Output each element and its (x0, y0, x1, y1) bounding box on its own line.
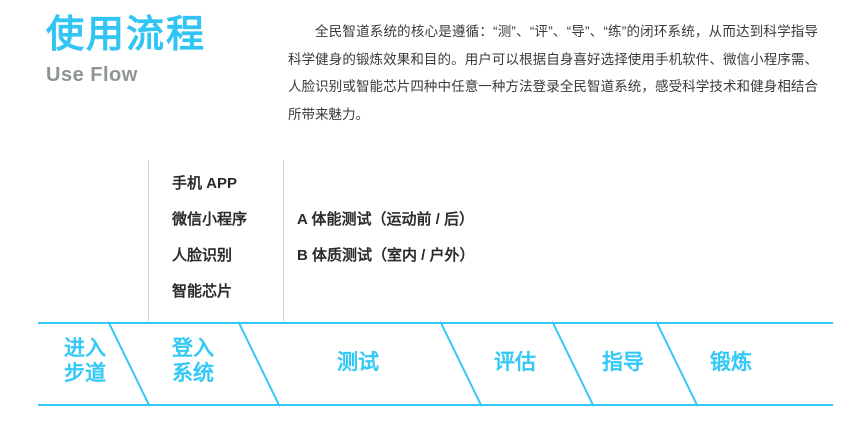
test-items-list: A 体能测试（运动前 / 后） B 体质测试（室内 / 户外） (297, 202, 475, 274)
step-test[interactable]: 测试 (288, 350, 428, 375)
step-guide[interactable]: 指导 (580, 350, 666, 375)
detail-area: 手机 APP 微信小程序 人脸识别 智能芯片 A 体能测试（运动前 / 后） B… (0, 160, 851, 320)
step-label-line1: 锻炼 (688, 350, 774, 375)
step-enter-trail[interactable]: 进入 步道 (42, 336, 128, 386)
step-label-line1: 评估 (472, 350, 558, 375)
list-item: 微信小程序 (172, 202, 277, 238)
login-methods-list: 手机 APP 微信小程序 人脸识别 智能芯片 (172, 166, 277, 310)
band-top-rule (38, 322, 833, 324)
band-bottom-rule (38, 404, 833, 406)
step-label-line1: 登入 (150, 336, 236, 361)
step-login-system[interactable]: 登入 系统 (150, 336, 236, 386)
divider-left (148, 160, 149, 322)
page-title-cn: 使用流程 (46, 14, 296, 58)
list-item: A 体能测试（运动前 / 后） (297, 202, 475, 238)
page-title-en: Use Flow (46, 64, 296, 87)
list-item: 人脸识别 (172, 238, 277, 274)
title-block: 使用流程 Use Flow (46, 14, 296, 87)
intro-paragraph: 全民智道系统的核心是遵循：“测”、“评”、“导”、“练”的闭环系统，从而达到科学… (288, 18, 818, 129)
step-label-line1: 测试 (288, 350, 428, 375)
divider-middle (283, 160, 284, 322)
step-label-line1: 指导 (580, 350, 666, 375)
step-label-line1: 进入 (42, 336, 128, 361)
step-label-line2: 步道 (42, 361, 128, 386)
step-label-line2: 系统 (150, 361, 236, 386)
step-evaluate[interactable]: 评估 (472, 350, 558, 375)
list-item: 智能芯片 (172, 274, 277, 310)
list-item: 手机 APP (172, 166, 277, 202)
band-slash-2 (237, 321, 280, 406)
process-band: 进入 步道 登入 系统 测试 评估 指导 锻炼 (0, 322, 851, 406)
step-exercise[interactable]: 锻炼 (688, 350, 774, 375)
list-item: B 体质测试（室内 / 户外） (297, 238, 475, 274)
